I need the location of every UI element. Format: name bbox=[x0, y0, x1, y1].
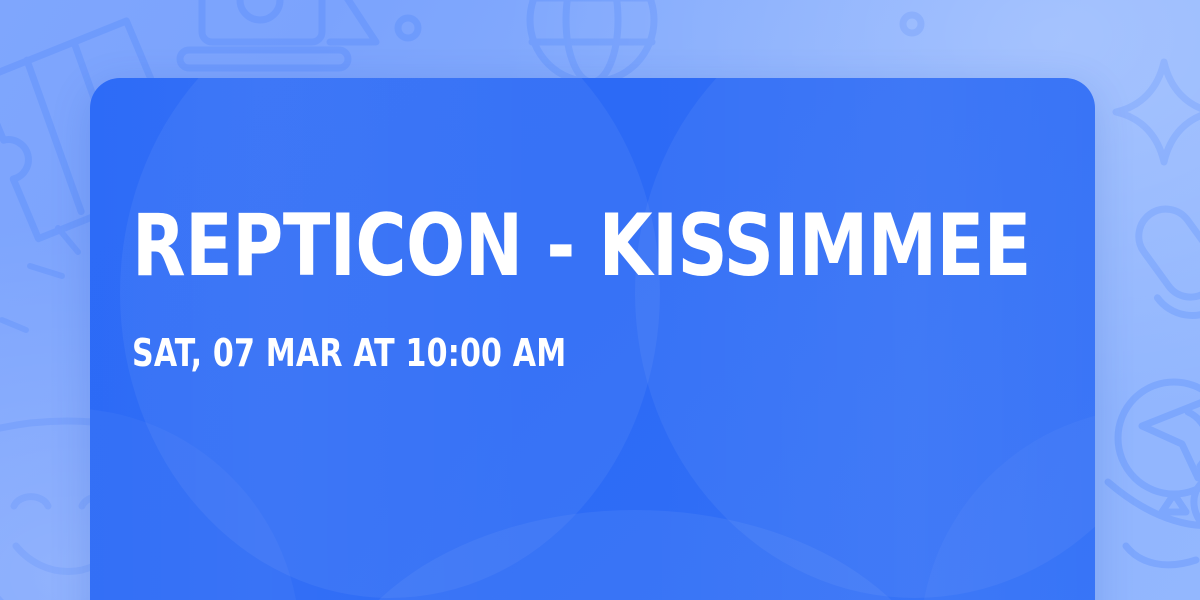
event-card[interactable]: REPTICON - KISSIMMEE SAT, 07 MAR AT 10:0… bbox=[90, 78, 1095, 600]
swirl-line-icon bbox=[1108, 476, 1200, 565]
globe-icon bbox=[530, 0, 654, 82]
decorative-circle-bottom bbox=[320, 510, 950, 600]
confetti-dot-icon bbox=[2, 228, 78, 330]
event-banner: REPTICON - KISSIMMEE SAT, 07 MAR AT 10:0… bbox=[0, 0, 1200, 600]
event-title: REPTICON - KISSIMMEE bbox=[132, 204, 945, 288]
decorative-circle-bottom-left bbox=[90, 408, 300, 600]
card-content: REPTICON - KISSIMMEE SAT, 07 MAR AT 10:0… bbox=[132, 204, 1035, 372]
decorative-circle-bottom-right bbox=[920, 408, 1095, 600]
microphone-icon bbox=[1115, 189, 1200, 366]
projector-icon bbox=[180, 0, 376, 68]
event-datetime: SAT, 07 MAR AT 10:00 AM bbox=[132, 334, 927, 372]
paper-plane-icon bbox=[1142, 392, 1200, 478]
sparkle-icon bbox=[1116, 62, 1200, 162]
balloon-icon bbox=[1118, 382, 1200, 512]
